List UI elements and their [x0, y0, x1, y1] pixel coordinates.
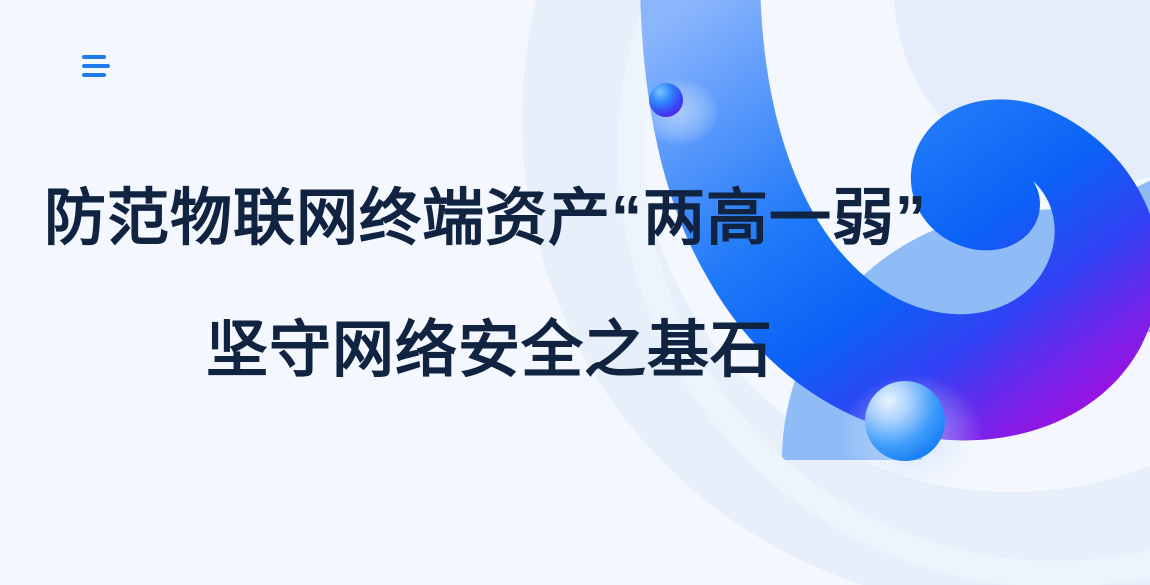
large-blue-sphere	[840, 374, 984, 498]
small-gradient-sphere	[639, 78, 719, 146]
slide-canvas: 防范物联网终端资产“两高一弱” 坚守网络安全之基石	[0, 0, 1150, 585]
hamburger-menu-icon[interactable]	[82, 48, 118, 84]
menu-bar-bottom	[82, 73, 106, 77]
pale-inner-disc	[894, 0, 1150, 186]
page-title: 防范物联网终端资产“两高一弱” 坚守网络安全之基石	[0, 186, 900, 383]
menu-bar-middle	[82, 64, 110, 68]
title-line-1: 防范物联网终端资产“两高一弱”	[44, 186, 900, 252]
title-line-2: 坚守网络安全之基石	[206, 318, 900, 384]
menu-bar-top	[82, 55, 106, 59]
